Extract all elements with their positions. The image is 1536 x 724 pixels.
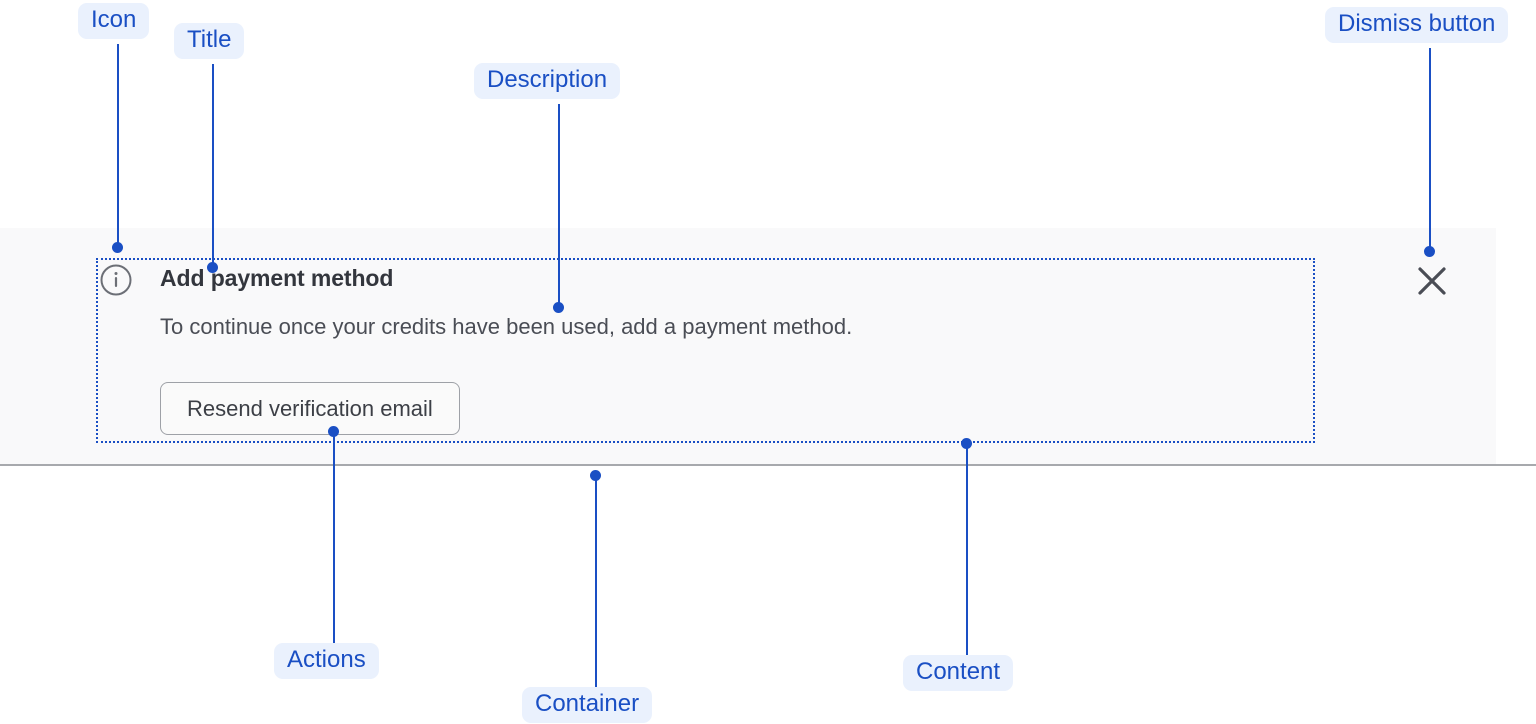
- annotation-dot-content: [961, 438, 972, 449]
- banner-bottom-divider: [0, 464, 1536, 466]
- resend-verification-email-button[interactable]: Resend verification email: [160, 382, 460, 435]
- annotation-dot-actions: [328, 426, 339, 437]
- annotation-label-content: Content: [903, 655, 1013, 691]
- close-icon[interactable]: [1415, 264, 1449, 298]
- annotation-label-title: Title: [174, 23, 244, 59]
- annotation-leader-dismiss-button: [1429, 48, 1431, 251]
- annotation-leader-icon: [117, 44, 119, 248]
- annotation-leader-actions: [333, 436, 335, 643]
- banner-title: Add payment method: [160, 265, 393, 292]
- annotation-leader-content: [966, 448, 968, 655]
- annotation-dot-container: [590, 470, 601, 481]
- info-circle-icon: [100, 264, 132, 296]
- annotation-leader-description: [558, 104, 560, 307]
- annotation-label-container: Container: [522, 687, 652, 723]
- annotation-leader-title: [212, 64, 214, 267]
- banner-description: To continue once your credits have been …: [160, 314, 852, 340]
- annotation-dot-title: [207, 262, 218, 273]
- annotation-dot-description: [553, 302, 564, 313]
- annotation-label-actions: Actions: [274, 643, 379, 679]
- annotation-leader-container: [595, 480, 597, 687]
- annotation-label-description: Description: [474, 63, 620, 99]
- annotation-dot-dismiss-button: [1424, 246, 1435, 257]
- annotation-dot-icon: [112, 242, 123, 253]
- annotation-label-dismiss-button: Dismiss button: [1325, 7, 1508, 43]
- annotation-label-icon: Icon: [78, 3, 149, 39]
